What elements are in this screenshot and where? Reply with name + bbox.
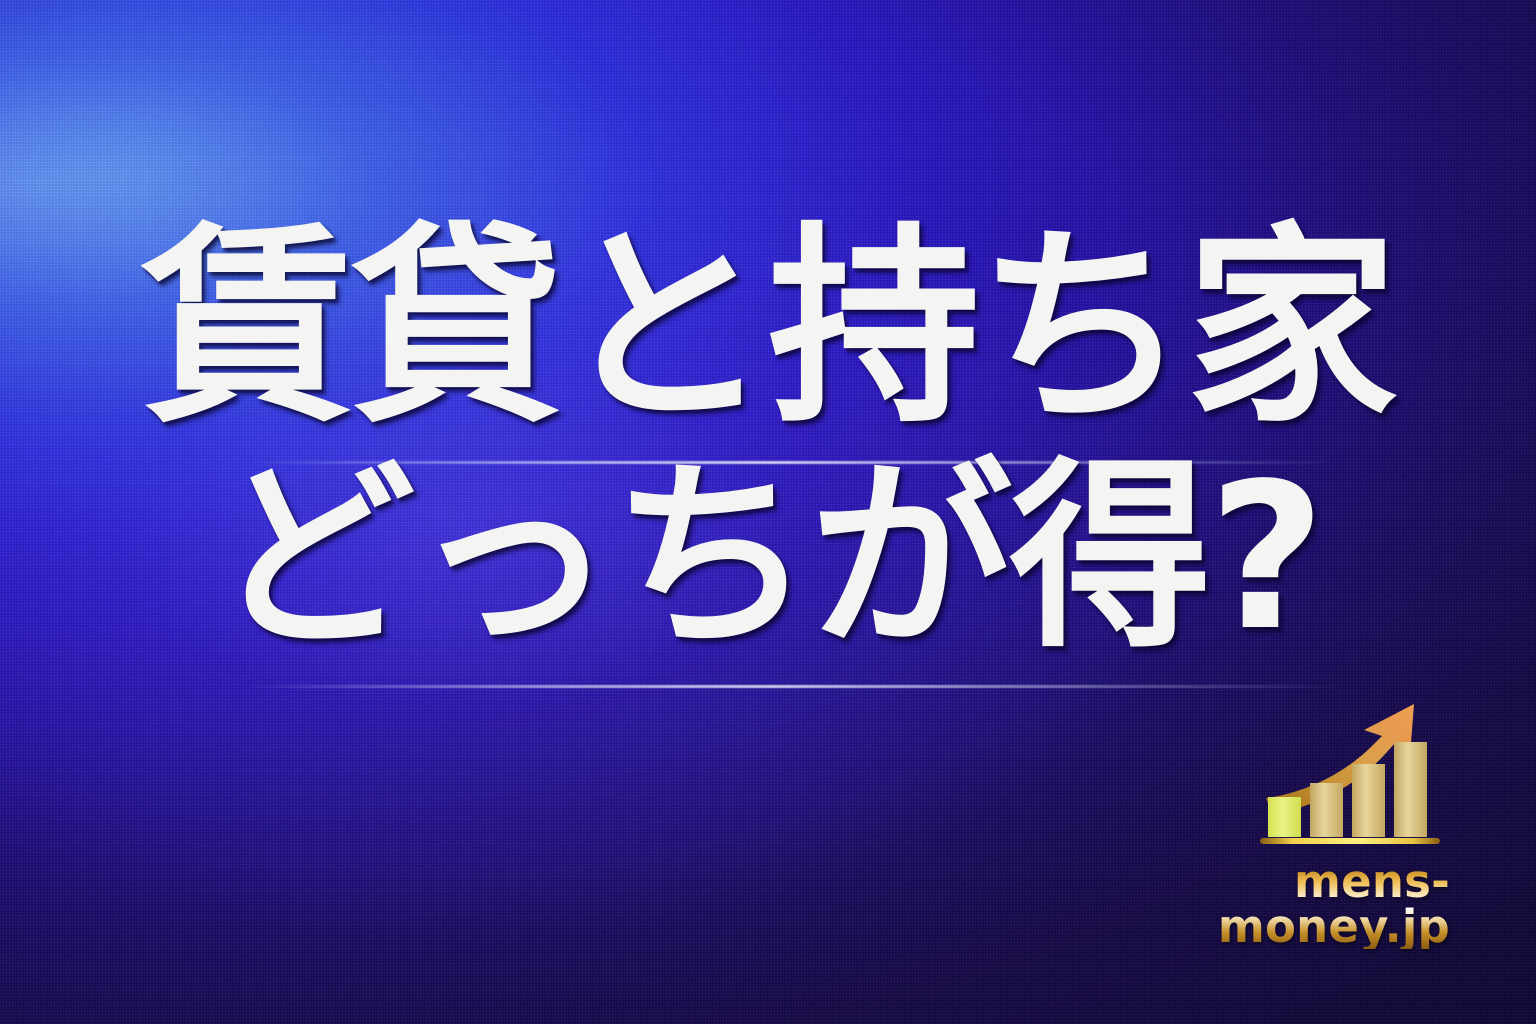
divider-rule-bottom	[248, 685, 1338, 688]
logo-bar-2	[1310, 783, 1343, 837]
brand-logo[interactable]: mens-money.jp	[1110, 690, 1470, 949]
logo-bar-4	[1394, 742, 1427, 837]
growth-bar-chart-icon	[1260, 690, 1440, 855]
headline-block: 賃貸と持ち家 どっちが得?	[0, 222, 1536, 658]
thumbnail-canvas: 賃貸と持ち家 どっちが得?	[0, 0, 1536, 1024]
logo-bar-1	[1268, 797, 1301, 837]
headline-line-1: 賃貸と持ち家	[0, 222, 1536, 434]
brand-wordmark[interactable]: mens-money.jp	[1110, 859, 1470, 949]
logo-baseline	[1260, 838, 1440, 844]
headline-line-2: どっちが得?	[0, 456, 1536, 658]
logo-bar-3	[1352, 764, 1385, 837]
